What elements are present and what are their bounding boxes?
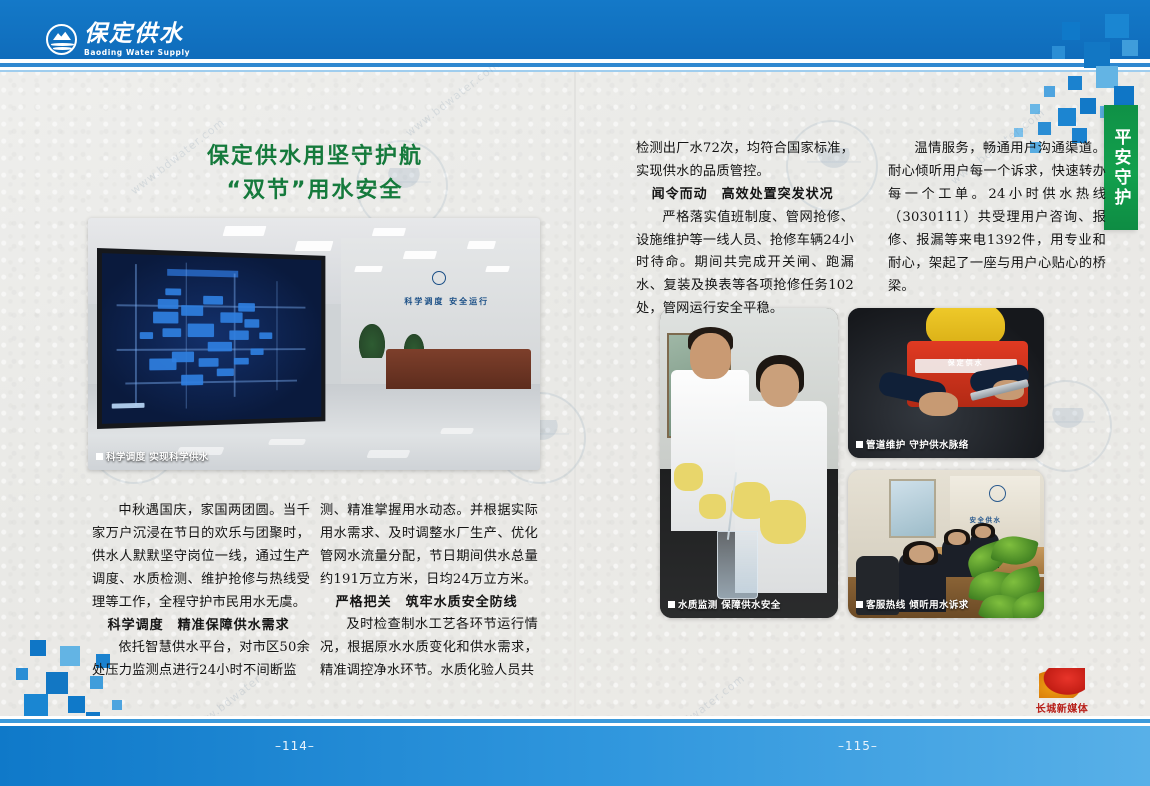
deco-square <box>1080 98 1096 114</box>
article-headline: 保定供水用坚守护航 “双节”用水安全 <box>90 140 540 208</box>
deco-square <box>30 640 46 656</box>
photo-customer-hotline: 安全供水 客服热线 倾听用水诉求 <box>848 470 1044 618</box>
deco-square <box>1084 42 1110 68</box>
page-number-left: –114– <box>275 739 315 753</box>
photo-pipe-maintenance: 保定供水 管道维护 守护供水脉络 <box>848 308 1044 458</box>
magazine-spread: 保定供水 Baoding Water Supply www.bdwater.co… <box>0 0 1150 786</box>
media-logo-label: 长城新媒体 <box>1022 700 1102 715</box>
page-gutter <box>574 72 576 718</box>
right-page-column-2: 温情服务，畅通用户沟通渠道。耐心倾听用户每一个诉求，快速转办每一个工单。24小时… <box>888 138 1106 299</box>
photo-water-quality-lab: 水质监测 保障供水安全 <box>660 308 838 618</box>
headline-line-1: 保定供水用坚守护航 <box>90 140 540 174</box>
photo-caption: 客服热线 倾听用水诉求 <box>856 597 969 611</box>
caption-bullet-icon <box>96 453 103 460</box>
paragraph: 中秋遇国庆，家国两团圆。当千家万户沉浸在节日的欢乐与团聚时，供水人默默坚守岗位一… <box>92 500 310 615</box>
deco-square <box>46 672 68 694</box>
subheading: 闻令而动 高效处置突发状况 <box>636 184 854 207</box>
side-tab-section[interactable]: 平安守护 <box>1104 105 1138 230</box>
deco-square <box>1105 14 1129 38</box>
deco-square <box>1014 128 1023 137</box>
photo-caption: 水质监测 保障供水安全 <box>668 597 781 611</box>
headline-line-2: “双节”用水安全 <box>90 174 540 208</box>
deco-square <box>1096 66 1118 88</box>
subheading: 严格把关 筑牢水质安全防线 <box>320 592 538 615</box>
caption-bullet-icon <box>856 441 863 448</box>
brand-logo: 保定供水 Baoding Water Supply <box>46 22 190 57</box>
page-number-right: –115– <box>838 739 878 753</box>
deco-square <box>1030 104 1040 114</box>
wall-slogan: 科学调度 安全运行 <box>404 296 489 307</box>
right-page-column-1: 检测出厂水72次，均符合国家标准，实现供水的品质管控。 闻令而动 高效处置突发状… <box>636 138 854 321</box>
deco-square <box>60 646 80 666</box>
caption-bullet-icon <box>668 601 675 608</box>
deco-square <box>1114 86 1134 106</box>
photo-caption: 管道维护 守护供水脉络 <box>856 437 969 451</box>
video-wall-display <box>97 248 325 429</box>
wall-emblem-icon <box>989 485 1006 502</box>
media-partner-logo: 长城新媒体 <box>1022 668 1102 715</box>
brand-logo-en: Baoding Water Supply <box>84 48 190 57</box>
subheading: 科学调度 精准保障供水需求 <box>92 615 310 638</box>
vest-text: 保定供水 <box>919 358 1013 368</box>
brand-logo-cn: 保定供水 <box>84 22 190 45</box>
bottom-banner <box>0 726 1150 786</box>
paragraph: 及时检查制水工艺各环节运行情况，根据原水水质变化和供水需求，精准调控净水环节。水… <box>320 614 538 683</box>
deco-square <box>1038 122 1051 135</box>
deco-square <box>1062 22 1080 40</box>
deco-square <box>24 694 48 718</box>
paragraph: 测、精准掌握用水动态。并根据实际用水需求、及时调整水厂生产、优化管网水流量分配，… <box>320 500 538 592</box>
left-page-column-1: 中秋遇国庆，家国两团圆。当千家万户沉浸在节日的欢乐与团聚时，供水人默默坚守岗位一… <box>92 500 310 683</box>
caption-bullet-icon <box>856 601 863 608</box>
deco-square <box>68 696 85 713</box>
caption-text: 水质监测 保障供水安全 <box>678 597 781 611</box>
deco-square <box>1058 108 1076 126</box>
wall-emblem-icon <box>432 271 446 285</box>
photo-control-room: 科学调度 安全运行 科学调度 实现科学供水 <box>88 218 540 470</box>
deco-square <box>1044 86 1055 97</box>
paragraph: 严格落实值班制度、管网抢修、设施维护等一线人员、抢修车辆24小时待命。期间共完成… <box>636 207 854 322</box>
photo-caption: 科学调度 实现科学供水 <box>96 449 209 463</box>
deco-square <box>112 700 122 710</box>
water-drop-mountain-icon <box>46 24 77 55</box>
caption-text: 管道维护 守护供水脉络 <box>866 437 969 451</box>
paragraph: 依托智慧供水平台，对市区50余处压力监测点进行24小时不间断监 <box>92 637 310 683</box>
deco-square <box>1068 76 1082 90</box>
side-tab-label: 平安守护 <box>1109 128 1134 208</box>
deco-square <box>1122 40 1138 56</box>
great-wall-ribbon-icon <box>1039 668 1085 698</box>
left-page-column-2: 测、精准掌握用水动态。并根据实际用水需求、及时调整水厂生产、优化管网水流量分配，… <box>320 500 538 683</box>
deco-square <box>16 668 28 680</box>
paragraph: 检测出厂水72次，均符合国家标准，实现供水的品质管控。 <box>636 138 854 184</box>
paragraph: 温情服务，畅通用户沟通渠道。耐心倾听用户每一个诉求，快速转办每一个工单。24小时… <box>888 138 1106 299</box>
caption-text: 科学调度 实现科学供水 <box>106 449 209 463</box>
caption-text: 客服热线 倾听用水诉求 <box>866 597 969 611</box>
deco-square <box>1052 46 1065 59</box>
foliage <box>962 532 1044 618</box>
